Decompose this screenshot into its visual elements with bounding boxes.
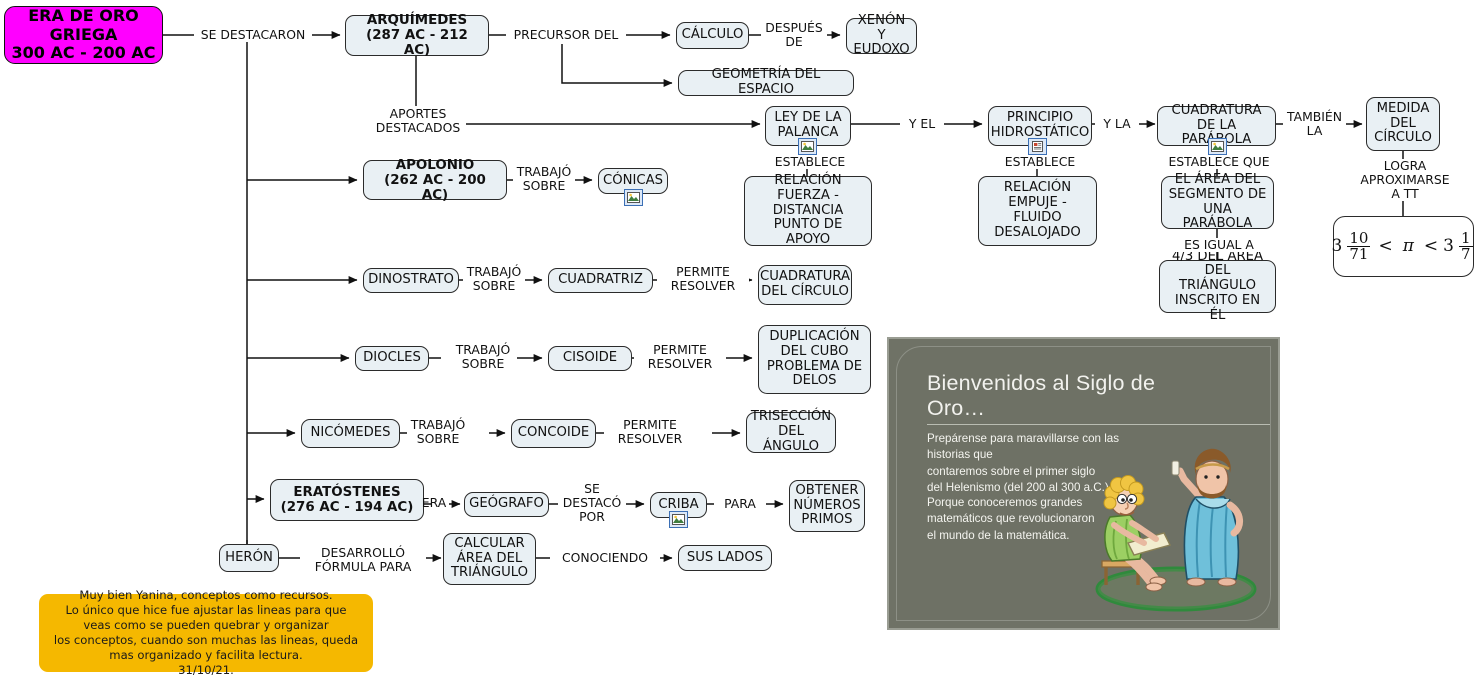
node-sus-lados[interactable]: SUS LADOS	[678, 545, 772, 571]
node-triseccion-del-angulo[interactable]: TRISECCIÓN DEL ÁNGULO	[746, 412, 836, 453]
formula-op-right: <	[1421, 237, 1441, 256]
node-xenon-y-eudoxo[interactable]: XENÓN Y EUDOXO	[846, 18, 917, 54]
node-concoide[interactable]: CONCOIDE	[511, 419, 596, 448]
link-label-tambien-la: TAMBIÉN LA	[1283, 110, 1346, 138]
formula-fraction-right: 1 7	[1459, 231, 1473, 263]
node-formula-pi-aproximacion[interactable]: 3 10 71 < π < 3 1 7	[1333, 216, 1474, 277]
slide-inner-frame: Bienvenidos al Siglo de Oro… Prepárense …	[896, 346, 1271, 621]
cuadratura-parabola-image-resource[interactable]	[1208, 138, 1227, 155]
link-label-y-la: Y LA	[1095, 117, 1139, 131]
node-relacion-fuerza-distancia[interactable]: RELACIÓN FUERZA - DISTANCIA PUNTO DE APO…	[744, 176, 872, 246]
link-label-aportes-destacados: APORTES DESTACADOS	[370, 107, 466, 135]
formula-num-left: 10	[1347, 231, 1370, 246]
link-label-establece-hidrostatico: ESTABLECE	[991, 155, 1089, 169]
link-label-era: ERA	[412, 496, 456, 510]
node-cuadratura-del-circulo[interactable]: CUADRATURA DEL CÍRCULO	[758, 265, 852, 305]
link-label-permite-resolver-cisoide: PERMITE RESOLVER	[634, 343, 726, 371]
formula-whole-left: 3	[1332, 237, 1343, 256]
formula-den-left: 71	[1347, 246, 1370, 262]
link-label-trabajo-sobre-nicomedes: TRABAJÓ SOBRE	[407, 418, 469, 446]
formula-num-right: 1	[1459, 231, 1473, 246]
link-label-y-el: Y EL	[900, 117, 944, 131]
node-geografo[interactable]: GEÓGRAFO	[464, 492, 549, 517]
root-node-era-de-oro-griega[interactable]: ERA DE ORO GRIEGA 300 AC - 200 AC	[4, 6, 163, 64]
node-medida-del-circulo[interactable]: MEDIDA DEL CÍRCULO	[1366, 97, 1440, 151]
embedded-presentation-slide[interactable]: Bienvenidos al Siglo de Oro… Prepárense …	[887, 337, 1280, 630]
node-calcular-area-del-triangulo[interactable]: CALCULAR ÁREA DEL TRIÁNGULO	[443, 533, 536, 585]
node-relacion-empuje-fluido[interactable]: RELACIÓN EMPUJE - FLUIDO DESALOJADO	[978, 176, 1097, 246]
link-label-conociendo: CONOCIENDO	[550, 551, 660, 565]
link-label-logra-aproximarse: LOGRA APROXIMARSE A TT	[1348, 159, 1462, 201]
image-icon	[627, 192, 640, 203]
node-duplicacion-del-cubo[interactable]: DUPLICACIÓN DEL CUBO PROBLEMA DE DELOS	[758, 325, 871, 394]
node-nicomedes[interactable]: NICÓMEDES	[301, 419, 400, 448]
node-calculo[interactable]: CÁLCULO	[676, 22, 749, 49]
node-diocles[interactable]: DIOCLES	[355, 346, 429, 371]
link-label-se-destaco-por: SE DESTACÓ POR	[558, 482, 626, 524]
link-label-precursor-del: PRECURSOR DEL	[506, 28, 626, 42]
link-label-desarrollo-formula-para: DESARROLLÓ FÓRMULA PARA	[300, 546, 426, 574]
link-label-permite-resolver-cuadratriz: PERMITE RESOLVER	[657, 265, 749, 293]
link-label-trabajo-sobre-diocles: TRABAJÓ SOBRE	[452, 343, 514, 371]
greek-teacher-student-illustration	[1084, 439, 1264, 614]
image-icon	[672, 514, 685, 525]
node-cisoide[interactable]: CISOIDE	[548, 346, 632, 371]
sticky-note-feedback[interactable]: Muy bien Yanina, conceptos como recursos…	[39, 594, 373, 672]
formula-den-right: 7	[1459, 246, 1473, 262]
node-dinostrato[interactable]: DINOSTRATO	[363, 268, 459, 293]
node-arquimedes[interactable]: ARQUÍMEDES (287 AC - 212 AC)	[345, 15, 489, 56]
image-icon	[1211, 141, 1224, 152]
formula-op-left: <	[1375, 237, 1395, 256]
formula-pi: π	[1398, 237, 1419, 256]
node-area-del-segmento-de-parabola[interactable]: EL ÁREA DEL SEGMENTO DE UNA PARÁBOLA	[1161, 176, 1274, 229]
node-obtener-numeros-primos[interactable]: OBTENER NÚMEROS PRIMOS	[789, 480, 865, 532]
criba-image-resource[interactable]	[669, 511, 688, 528]
document-icon	[1031, 141, 1044, 152]
node-cuatro-tercios-area-triangulo[interactable]: 4/3 DEL ÁREA DEL TRIÁNGULO INSCRITO EN É…	[1159, 260, 1276, 313]
conicas-image-resource[interactable]	[624, 189, 643, 206]
link-label-establece-que: ESTABLECE QUE	[1157, 155, 1281, 169]
link-label-es-igual-a: ES IGUAL A	[1169, 238, 1269, 252]
node-apolonio[interactable]: APOLONIO (262 AC - 200 AC)	[363, 160, 507, 200]
node-heron[interactable]: HERÓN	[219, 544, 279, 572]
principio-hidrostatico-document-resource[interactable]	[1028, 138, 1047, 155]
link-label-trabajo-sobre-apolonio: TRABAJÓ SOBRE	[513, 165, 575, 193]
link-label-permite-resolver-concoide: PERMITE RESOLVER	[604, 418, 696, 446]
slide-title: Bienvenidos al Siglo de Oro…	[927, 371, 1270, 425]
link-label-se-destacaron: SE DESTACARON	[194, 28, 312, 42]
link-label-trabajo-sobre-dinostrato: TRABAJÓ SOBRE	[463, 265, 525, 293]
image-icon	[801, 141, 814, 152]
link-label-establece-palanca: ESTABLECE	[761, 155, 859, 169]
formula-expression: 3 10 71 < π < 3 1 7	[1332, 231, 1475, 263]
link-label-despues-de: DESPUÉS DE	[761, 21, 827, 49]
formula-whole-right: 3	[1443, 237, 1454, 256]
node-cuadratriz[interactable]: CUADRATRIZ	[548, 268, 653, 293]
formula-fraction-left: 10 71	[1347, 231, 1370, 263]
link-label-para: PARA	[714, 497, 766, 511]
node-geometria-del-espacio[interactable]: GEOMETRÍA DEL ESPACIO	[678, 70, 854, 96]
ley-palanca-image-resource[interactable]	[798, 138, 817, 155]
node-eratostenes[interactable]: ERATÓSTENES (276 AC - 194 AC)	[270, 479, 424, 521]
